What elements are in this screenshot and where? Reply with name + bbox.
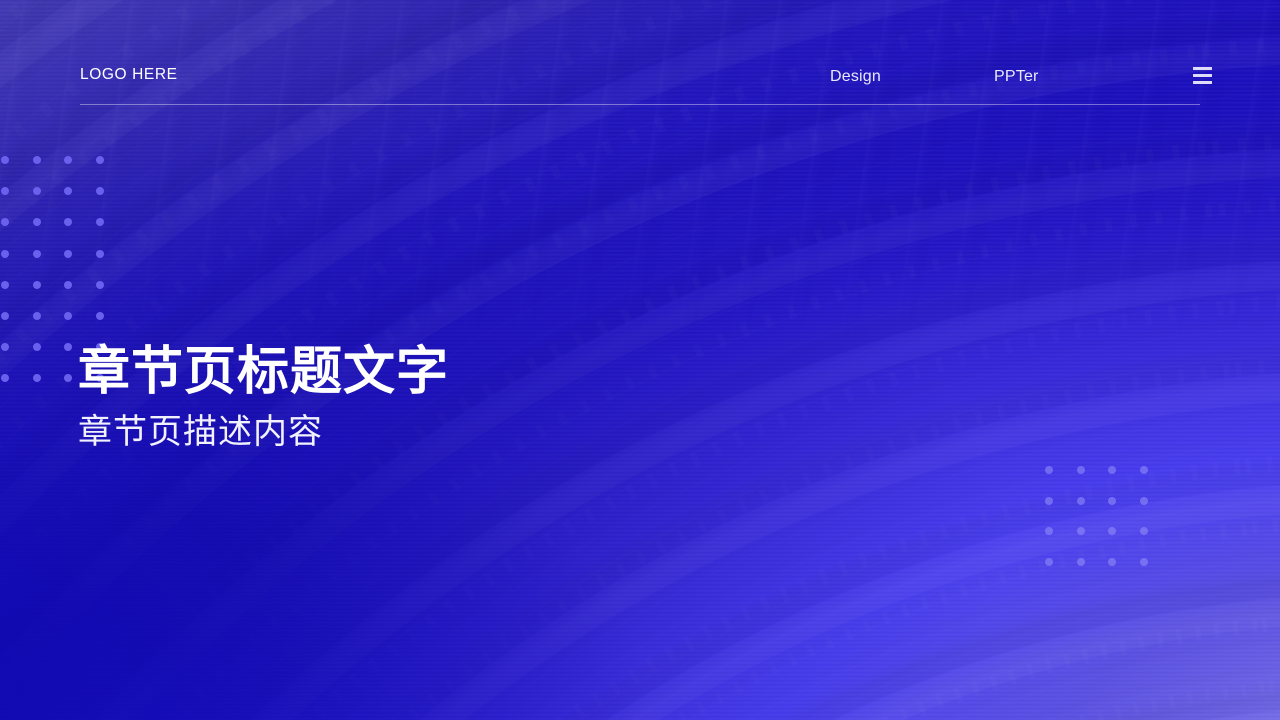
grid-dot [64,374,72,382]
grid-dot [1,374,9,382]
grid-dot [1077,527,1085,535]
grid-dot [96,281,104,289]
grid-dot [1,250,9,258]
menu-bar [1193,74,1212,77]
grid-dot [96,250,104,258]
grid-dot [64,312,72,320]
grid-dot [1045,558,1053,566]
grid-dot [1108,558,1116,566]
grid-dot [96,187,104,195]
grid-dot [1045,527,1053,535]
menu-bar [1193,81,1212,84]
grid-dot [1,156,9,164]
nav-item-design[interactable]: Design [830,68,881,86]
grid-dot [64,343,72,351]
grid-dot [1,343,9,351]
menu-bar [1193,67,1212,70]
grid-dot [96,312,104,320]
grid-dot [33,156,41,164]
grid-dot [96,218,104,226]
hamburger-menu-icon[interactable] [1193,65,1212,86]
grid-dot [64,281,72,289]
grid-dot [96,156,104,164]
grid-dot [1108,527,1116,535]
grid-dot [64,156,72,164]
grid-dot [1077,497,1085,505]
grid-dot [1140,558,1148,566]
section-title: 章节页标题文字 [78,344,449,400]
logo-placeholder[interactable]: LOGO HERE [80,66,178,84]
grid-dot [1045,497,1053,505]
grid-dot [33,250,41,258]
grid-dot [1108,497,1116,505]
grid-dot [64,250,72,258]
grid-dot [1,218,9,226]
grid-dot [33,187,41,195]
slide-header: LOGO HERE Design PPTer [0,0,1280,110]
nav-menu: Design PPTer [830,68,1039,86]
grid-dot [1,187,9,195]
grid-dot [64,187,72,195]
dot-grid-right [1045,466,1171,588]
grid-dot [1077,558,1085,566]
grid-dot [64,218,72,226]
nav-item-ppter[interactable]: PPTer [994,68,1039,86]
grid-dot [33,343,41,351]
grid-dot [1140,497,1148,505]
grid-dot [1140,527,1148,535]
slide-canvas: LOGO HERE Design PPTer 章节页标题文字 章节页描述内容 [0,0,1280,720]
grid-dot [1077,466,1085,474]
grid-dot [1,281,9,289]
title-block: 章节页标题文字 章节页描述内容 [78,344,449,452]
grid-dot [33,312,41,320]
grid-dot [33,374,41,382]
grid-dot [1108,466,1116,474]
grid-dot [33,281,41,289]
header-divider [80,104,1200,105]
grid-dot [1,312,9,320]
section-subtitle: 章节页描述内容 [78,414,449,451]
grid-dot [1140,466,1148,474]
grid-dot [1045,466,1053,474]
grid-dot [33,218,41,226]
